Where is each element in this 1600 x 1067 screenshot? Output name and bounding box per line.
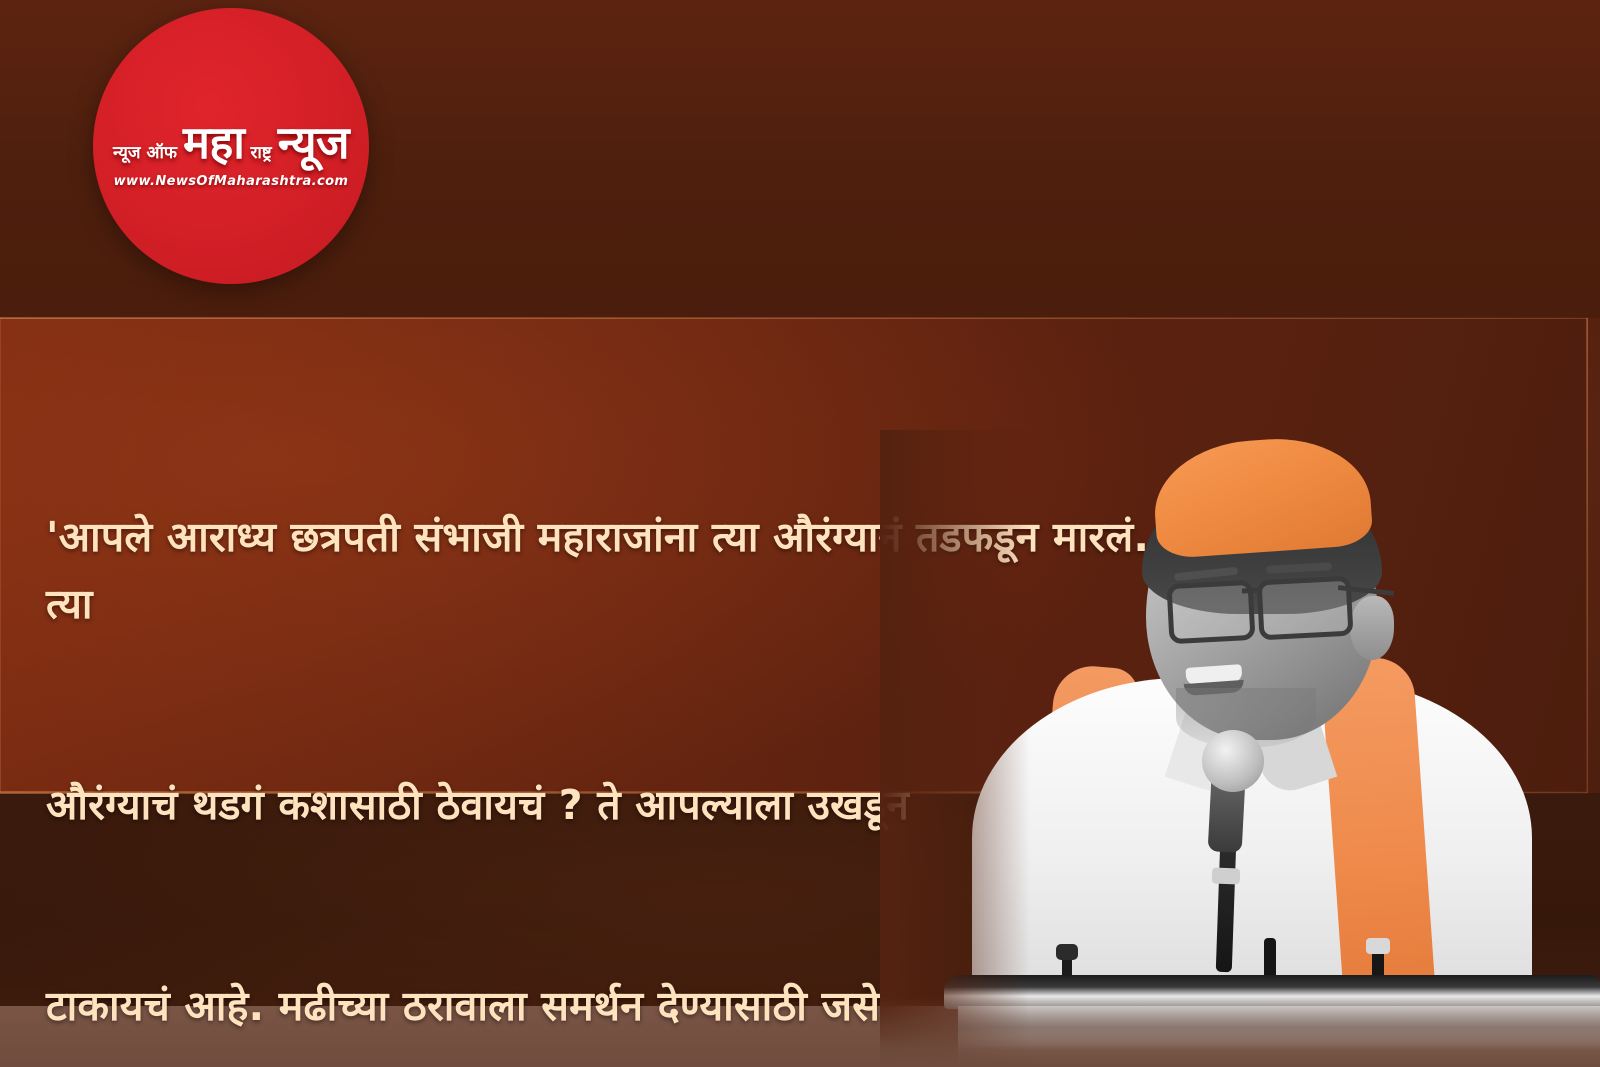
- microphone-ring: [1212, 868, 1241, 885]
- podium-pin-left-top: [1056, 944, 1078, 960]
- logo-wordmark: न्यूज ऑफ महा राष्ट्र न्यूज: [93, 120, 369, 165]
- logo-word-news-small: न्यूज: [113, 145, 141, 162]
- poster-canvas: 'आपले आराध्य छत्रपती संभाजी महाराजांना त…: [0, 0, 1600, 1067]
- logo-word-maha: महा: [183, 120, 244, 165]
- ear: [1350, 596, 1394, 660]
- photo-fade-left: [880, 430, 1030, 1067]
- quote-panel-top-edge: [0, 317, 1588, 319]
- microphone-head: [1202, 730, 1264, 792]
- logo-word-rashtra: राष्ट्र: [250, 145, 271, 162]
- speaker-photo: [880, 430, 1600, 1067]
- orange-cap: [1150, 433, 1373, 560]
- glasses-bridge: [1242, 587, 1262, 593]
- podium-pin-right-top: [1366, 938, 1390, 954]
- brand-logo[interactable]: न्यूज ऑफ महा राष्ट्र न्यूज www.NewsOfMah…: [93, 8, 369, 284]
- photo-fade-bottom: [880, 997, 1600, 1067]
- logo-content: न्यूज ऑफ महा राष्ट्र न्यूज www.NewsOfMah…: [93, 120, 369, 189]
- logo-word-news: न्यूज: [278, 120, 349, 165]
- logo-word-of: ऑफ: [146, 145, 177, 162]
- logo-website-url[interactable]: www.NewsOfMaharashtra.com: [93, 174, 369, 189]
